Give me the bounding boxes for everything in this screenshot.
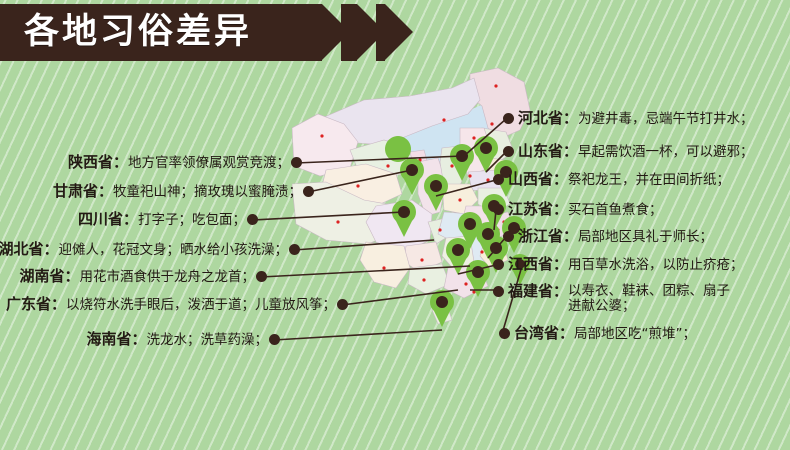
label-row-hubei: 湖北省：迎傩人，花冠文身；晒水给小孩洗澡； xyxy=(0,242,288,257)
label-row-guangdong: 广东省：以烧符水洗手眼后，泼洒于道；儿童放风筝； xyxy=(6,297,336,312)
label-row-hainan: 海南省：洗龙水；洗草药澡； xyxy=(86,332,268,347)
province-desc: 用花市酒食供于龙舟之龙首； xyxy=(80,269,256,285)
label-dot-jiangsu xyxy=(493,204,504,215)
infographic-canvas: 各地习俗差异 xyxy=(0,0,790,450)
province-desc: 牧童祀山神；摘玫瑰以蜜腌渍； xyxy=(113,184,302,200)
label-dot-fujian xyxy=(493,286,504,297)
province-desc: 为避井毒，忌端午节打井水； xyxy=(578,111,754,127)
label-dot-hainan xyxy=(269,334,280,345)
label-row-fujian: 福建省：以寿衣、鞋袜、团粽、扇子进献公婆； xyxy=(508,284,730,314)
page-title: 各地习俗差异 xyxy=(24,9,252,55)
province-name: 海南省： xyxy=(86,330,146,348)
province-desc: 买石首鱼煮食； xyxy=(568,202,663,218)
label-dot-hebei xyxy=(503,113,514,124)
province-name: 山东省： xyxy=(518,142,578,160)
province-desc: 以烧符水洗手眼后，泼洒于道；儿童放风筝； xyxy=(66,297,336,313)
map-pin-group xyxy=(385,136,411,162)
label-dot-shaanxi xyxy=(291,157,302,168)
label-row-shaanxi: 陕西省：地方官率领僚属观赏竞渡； xyxy=(68,155,290,170)
province-desc: 祭祀龙王，并在田间折纸； xyxy=(568,172,730,188)
province-name: 江苏省： xyxy=(508,200,568,218)
province-desc: 局部地区具礼于师长； xyxy=(578,229,713,245)
label-dot-sichuan xyxy=(247,214,258,225)
province-desc: 洗龙水；洗草药澡； xyxy=(147,332,269,348)
province-name: 四川省： xyxy=(78,210,138,228)
label-row-zhejiang: 浙江省：局部地区具礼于师长； xyxy=(518,229,713,244)
label-dot-zhejiang xyxy=(503,231,514,242)
label-row-shandong: 山东省：早起需饮酒一杯，可以避邪； xyxy=(518,144,754,159)
label-dot-hunan xyxy=(256,271,267,282)
province-name: 江西省： xyxy=(508,255,568,273)
banner-chevron-2 xyxy=(341,4,357,61)
province-name: 浙江省： xyxy=(518,227,578,245)
label-row-sichuan: 四川省：打字子；吃包面； xyxy=(78,212,246,227)
province-desc: 用百草水洗浴，以防止疥疮； xyxy=(568,257,744,273)
province-name: 甘肃省： xyxy=(53,182,113,200)
province-name: 福建省： xyxy=(508,282,568,300)
label-dot-hubei xyxy=(289,244,300,255)
province-desc: 局部地区吃“煎堆”； xyxy=(574,326,696,342)
province-desc: 地方官率领僚属观赏竞渡； xyxy=(128,155,290,171)
label-row-jiangsu: 江苏省：买石首鱼煮食； xyxy=(508,202,663,217)
label-dot-taiwan xyxy=(499,328,510,339)
province-name: 河北省： xyxy=(518,109,578,127)
banner-chevron-3 xyxy=(376,4,385,61)
province-name: 湖南省： xyxy=(19,267,79,285)
label-row-hebei: 河北省：为避井毒，忌端午节打井水； xyxy=(518,111,754,126)
province-name: 台湾省： xyxy=(514,324,574,342)
province-name: 山西省： xyxy=(508,170,568,188)
banner-chevron-1 xyxy=(300,4,322,61)
province-desc: 早起需饮酒一杯，可以避邪； xyxy=(578,144,754,160)
label-row-jiangxi: 江西省：用百草水洗浴，以防止疥疮； xyxy=(508,257,744,272)
province-name: 湖北省： xyxy=(0,240,59,258)
province-desc: 以寿衣、鞋袜、团粽、扇子进献公婆； xyxy=(568,284,730,314)
province-name: 陕西省： xyxy=(68,153,128,171)
label-dot-jiangxi xyxy=(493,259,504,270)
label-row-hunan: 湖南省：用花市酒食供于龙舟之龙首； xyxy=(19,269,255,284)
label-row-gansu: 甘肃省：牧童祀山神；摘玫瑰以蜜腌渍； xyxy=(53,184,302,199)
label-row-taiwan: 台湾省：局部地区吃“煎堆”； xyxy=(514,326,696,341)
label-dot-guangdong xyxy=(337,299,348,310)
province-desc: 迎傩人，花冠文身；晒水给小孩洗澡； xyxy=(59,242,289,258)
label-dot-gansu xyxy=(303,186,314,197)
province-desc: 打字子；吃包面； xyxy=(138,212,246,228)
header-banner: 各地习俗差异 xyxy=(0,4,480,61)
label-dot-shandong xyxy=(503,146,514,157)
label-dot-shanxi xyxy=(493,174,504,185)
label-row-shanxi: 山西省：祭祀龙王，并在田间折纸； xyxy=(508,172,730,187)
province-name: 广东省： xyxy=(6,295,66,313)
